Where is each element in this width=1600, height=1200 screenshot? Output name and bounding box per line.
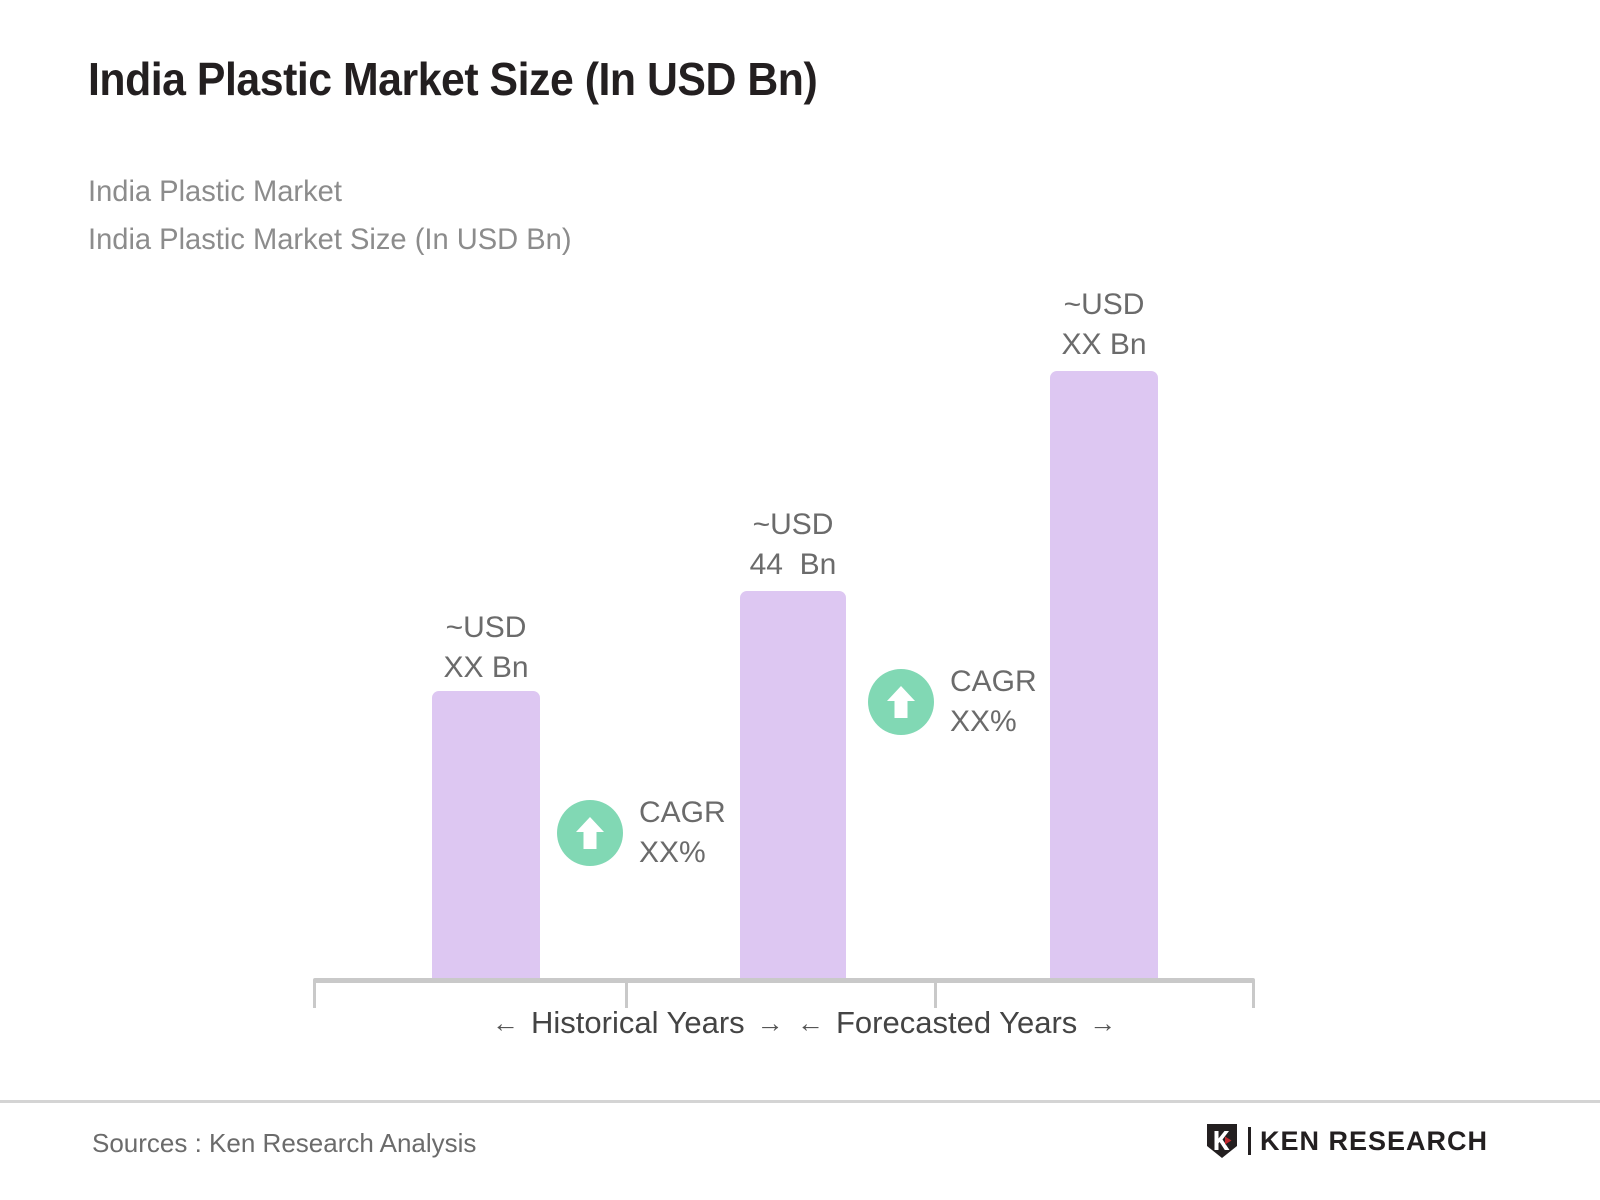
bar-3-value-line-2: XX Bn xyxy=(1050,325,1158,365)
bar-chart: ~USD XX Bn ~USD 44 Bn ~USD XX Bn CAGR XX… xyxy=(0,0,1600,1070)
bar-3-value-line-1: ~USD xyxy=(1050,285,1158,325)
cagr-annotation-1: CAGR XX% xyxy=(557,793,726,873)
cagr-annotation-2: CAGR XX% xyxy=(868,662,1037,742)
axis-period-forecasted-label: Forecasted Years xyxy=(836,1005,1077,1041)
cagr-2-badge xyxy=(868,669,934,735)
axis-tick-start xyxy=(313,980,316,1008)
left-arrow-icon: ← xyxy=(492,1008,519,1039)
axis-tick-end xyxy=(1252,980,1255,1008)
bar-2 xyxy=(740,591,846,980)
right-arrow-icon: → xyxy=(757,1008,784,1039)
cagr-1-badge xyxy=(557,800,623,866)
logo-wordmark: KEN RESEARCH xyxy=(1260,1126,1488,1157)
axis-tick-2 xyxy=(934,980,937,1008)
axis-period-historical-label: Historical Years xyxy=(531,1005,745,1041)
footer-divider xyxy=(0,1100,1600,1103)
cagr-1-line-2: XX% xyxy=(639,833,726,873)
bar-3 xyxy=(1050,371,1158,980)
sources-text: Sources : Ken Research Analysis xyxy=(92,1128,476,1159)
bar-1 xyxy=(432,691,540,980)
cagr-2-line-2: XX% xyxy=(950,702,1037,742)
bar-2-value-line-2: 44 Bn xyxy=(738,545,848,585)
arrow-up-icon xyxy=(884,683,918,721)
ken-research-shield-icon xyxy=(1205,1122,1239,1160)
axis-period-forecasted: ← Forecasted Years → xyxy=(797,1005,1116,1041)
bar-1-value-line-1: ~USD xyxy=(432,608,540,648)
logo-divider xyxy=(1248,1127,1251,1155)
ken-research-logo: KEN RESEARCH xyxy=(1205,1122,1488,1160)
bar-2-value-line-1: ~USD xyxy=(738,505,848,545)
right-arrow-icon: → xyxy=(1089,1008,1116,1039)
bar-2-value-label: ~USD 44 Bn xyxy=(738,505,848,585)
bar-1-value-line-2: XX Bn xyxy=(432,648,540,688)
axis-period-historical: ← Historical Years → xyxy=(492,1005,784,1041)
bar-3-value-label: ~USD XX Bn xyxy=(1050,285,1158,365)
cagr-1-line-1: CAGR xyxy=(639,793,726,833)
cagr-2-text: CAGR XX% xyxy=(950,662,1037,742)
x-axis-line xyxy=(313,978,1255,983)
axis-tick-1 xyxy=(625,980,628,1008)
cagr-1-text: CAGR XX% xyxy=(639,793,726,873)
slide-canvas: India Plastic Market Size (In USD Bn) In… xyxy=(0,0,1600,1200)
bar-1-value-label: ~USD XX Bn xyxy=(432,608,540,688)
cagr-2-line-1: CAGR xyxy=(950,662,1037,702)
left-arrow-icon: ← xyxy=(797,1008,824,1039)
arrow-up-icon xyxy=(573,814,607,852)
